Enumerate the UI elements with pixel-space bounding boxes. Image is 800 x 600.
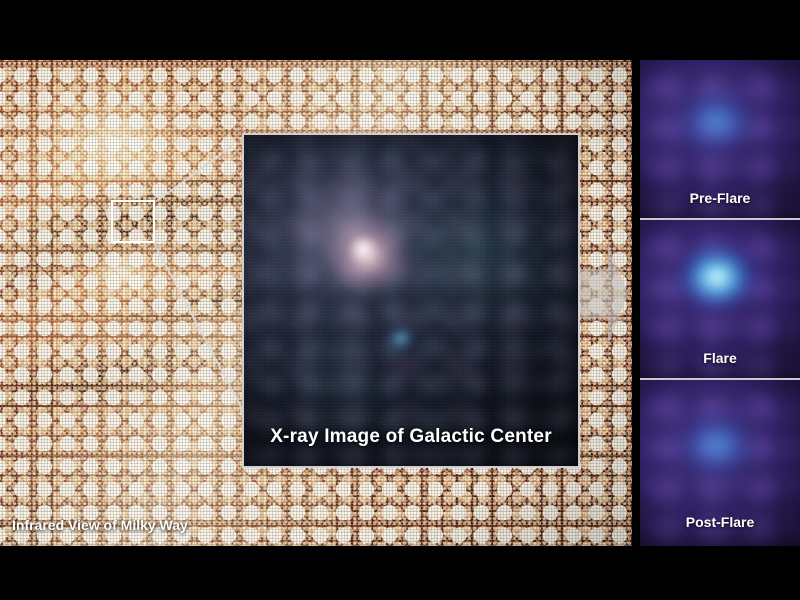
xray-vignette-layer [244,135,578,466]
flare-sequence-panels: Pre-Flare Flare Post-Flare [640,60,800,546]
xray-inset-image: X-ray Image of Galactic Center [242,133,580,468]
panel-label-pre-flare: Pre-Flare [640,190,800,206]
flare-panel-pre-flare: Pre-Flare [640,60,800,218]
flare-panel-post-flare: Post-Flare [640,380,800,546]
content-band: Infrared View of Milky Way X-ray Image o… [0,60,800,546]
flare-panel-flare: Flare [640,220,800,378]
figure-canvas: Infrared View of Milky Way X-ray Image o… [0,0,800,600]
panel-label-post-flare: Post-Flare [640,514,800,530]
infrared-caption: Infrared View of Milky Way [12,517,188,533]
xray-inset-caption: X-ray Image of Galactic Center [244,426,578,448]
panel-label-flare: Flare [640,350,800,366]
callout-box [111,200,155,243]
